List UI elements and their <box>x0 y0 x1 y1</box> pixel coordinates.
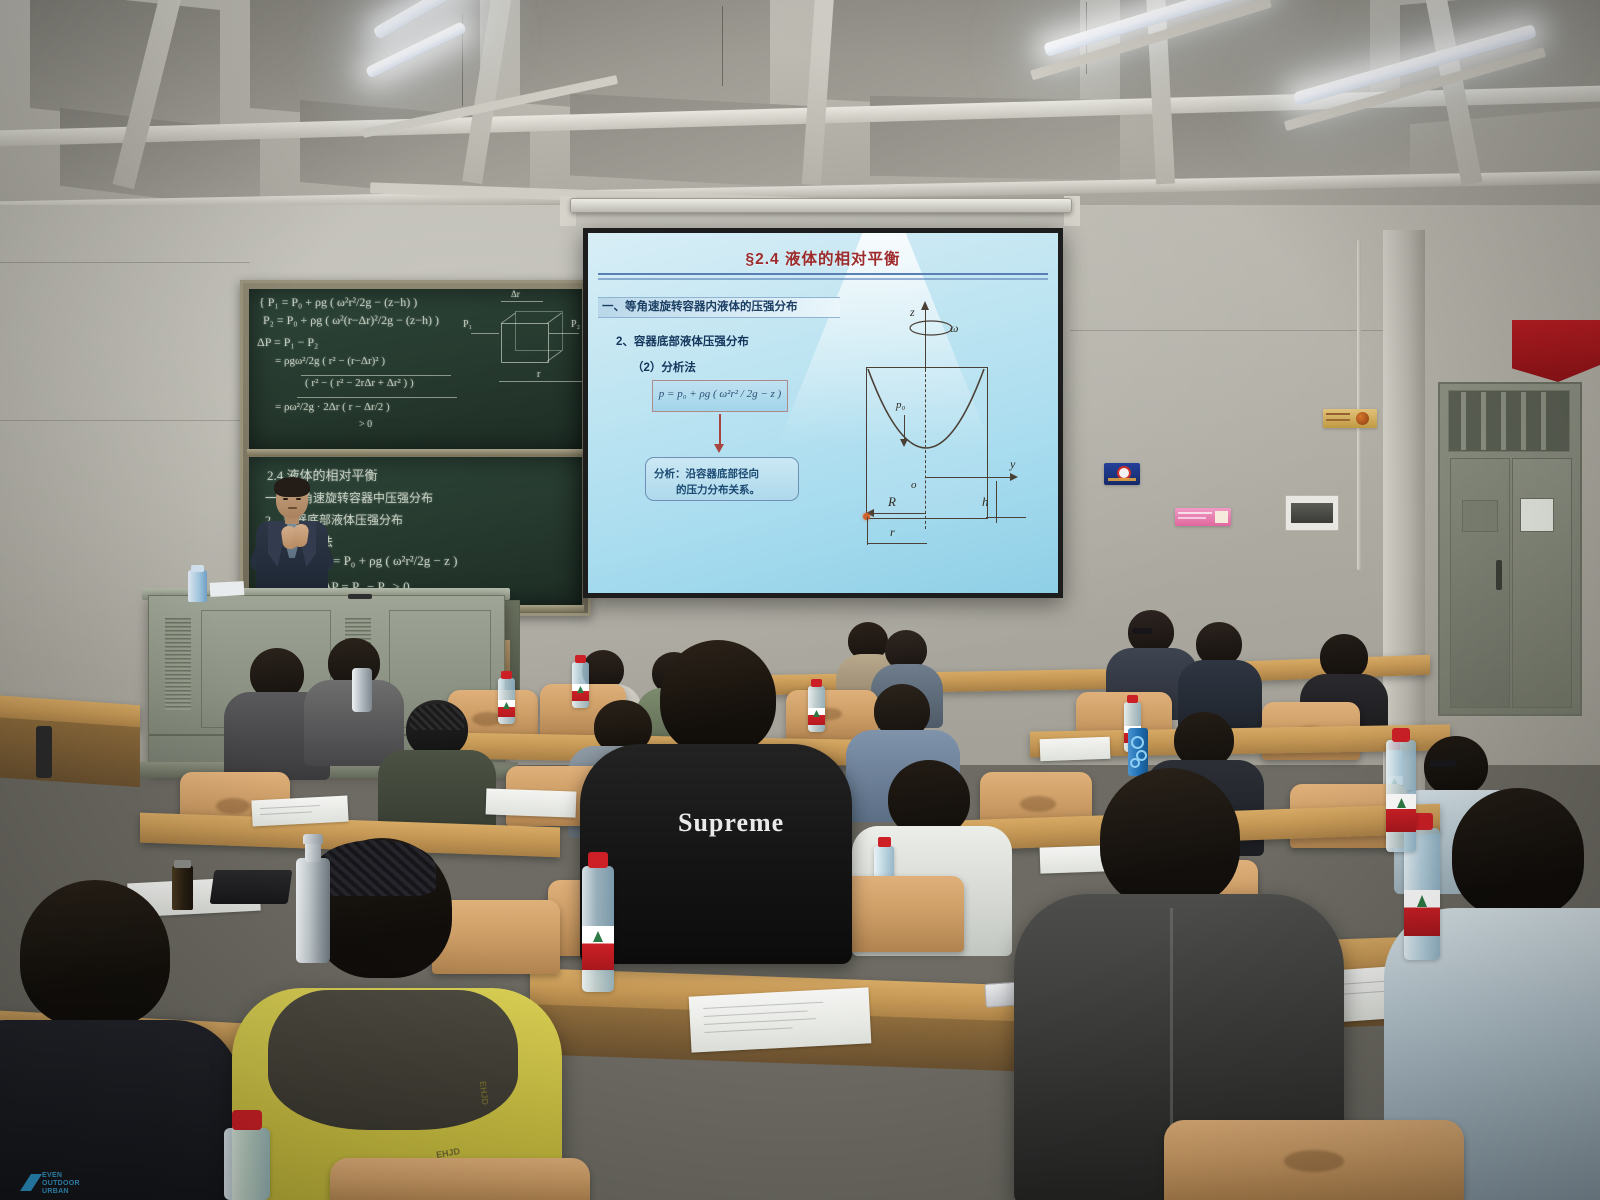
student-head <box>20 880 170 1028</box>
diagram-label-R: R <box>888 494 896 510</box>
chalk-line: ( r² − ( r² − 2rΔr + Δr² ) ) <box>305 377 414 389</box>
screen-roller <box>570 198 1072 213</box>
laptop[interactable] <box>210 870 293 904</box>
chair-back[interactable] <box>1164 1120 1464 1200</box>
black-jacket <box>580 744 852 964</box>
gold-plaque <box>1323 409 1377 428</box>
paper-sheet <box>486 788 577 817</box>
water-bottle[interactable] <box>1386 740 1416 852</box>
slide-heading: 一、等角速旋转容器内液体的压强分布 <box>602 298 840 316</box>
slide-surface: §2.4 液体的相对平衡 一、等角速旋转容器内液体的压强分布 2、容器底部液体压… <box>588 233 1058 593</box>
door-window-right <box>1520 498 1554 532</box>
slide-title: §2.4 液体的相对平衡 <box>588 247 1058 269</box>
diagram-label-h: h <box>982 494 989 510</box>
podium-paper <box>210 581 245 597</box>
parabolic-free-surface <box>866 367 986 479</box>
water-bottle[interactable] <box>224 1128 270 1200</box>
water-bottle[interactable] <box>582 866 614 992</box>
lecturer <box>252 480 332 602</box>
diagram-label-p0: p₀ <box>896 399 905 411</box>
slide-item-2: 2、容器底部液体压强分布 <box>616 333 749 349</box>
thermos-cap <box>174 860 191 868</box>
steel-bottle[interactable] <box>352 668 372 712</box>
water-bottle[interactable] <box>808 686 825 732</box>
door-handle[interactable] <box>1496 560 1502 590</box>
chalk-line: = ρgω²/2g ( r² − (r−Δr)² ) <box>275 355 385 367</box>
slide-item-2-sub: （2）分析法 <box>632 359 696 375</box>
desk-front-panel <box>0 717 140 787</box>
flask-lid <box>303 834 323 844</box>
door-right-leaf[interactable] <box>1512 458 1572 708</box>
panel-window <box>1291 503 1333 523</box>
door-panel-left <box>1462 500 1498 532</box>
student-head <box>1452 788 1584 918</box>
steel-flask[interactable] <box>296 858 330 963</box>
chalk-line: = ρω²/2g · 2Δr ( r − Δr/2 ) <box>275 401 390 413</box>
flask-neck <box>305 842 321 862</box>
electrical-panel[interactable] <box>1285 495 1339 531</box>
paper-sheet <box>689 987 872 1052</box>
blackboard-upper-panel: { P₁ = P₀ + ρg ( ω²r²/2g − (z−h) ) P₂ = … <box>249 289 582 449</box>
slide-conclusion-1: 分析：沿容器底部径向 <box>654 466 759 481</box>
light-hanger <box>722 6 723 86</box>
slide-formula-box: p = p₀ + ρg ( ω²r² / 2g − z ) <box>652 380 788 412</box>
diagram-label-y: y <box>1010 457 1015 472</box>
classroom-scene: { P₁ = P₀ + ρg ( ω²r²/2g − (z−h) ) P₂ = … <box>0 0 1600 1200</box>
blue-metal-bottle[interactable] <box>1128 728 1148 776</box>
water-bottle[interactable] <box>498 678 515 724</box>
blue-safety-sticker <box>1104 463 1140 485</box>
eyeglasses <box>1132 628 1152 634</box>
wall-pillar <box>1383 230 1425 790</box>
chalk-line: > 0 <box>359 419 372 430</box>
diagram-label-o: o <box>911 479 917 491</box>
diagram-label-z: z <box>910 305 915 320</box>
rotating-vessel-pressure-diagram: z ω p₀ y o R h <box>838 291 1038 571</box>
thermos-cup[interactable] <box>172 866 193 910</box>
desk-hook <box>36 726 52 778</box>
door-transom <box>1448 390 1570 452</box>
chalk-line: P = P₀ + ρg ( ω²r²/2g − z ) <box>323 553 457 569</box>
chalk-line: { P₁ = P₀ + ρg ( ω²r²/2g − (z−h) ) <box>259 295 417 310</box>
slide-conclusion-box: 分析：沿容器底部径向 的压力分布关系。 <box>645 457 799 501</box>
diagram-label-omega: ω <box>950 321 958 336</box>
chalk-line: P₂ = P₀ + ρg ( ω²(r−Δr)²/2g − (z−h) ) <box>263 313 439 328</box>
mesh-cap <box>410 704 464 730</box>
podium-water-bottle <box>188 570 207 602</box>
pink-notice <box>1175 508 1231 526</box>
chalk-line: ΔP = P₁ − P₂ <box>257 335 318 350</box>
projector-screen: §2.4 液体的相对平衡 一、等角速旋转容器内液体的压强分布 2、容器底部液体压… <box>583 228 1063 598</box>
student-head <box>660 640 776 756</box>
student-head <box>1100 768 1240 908</box>
hoodie-hood <box>268 990 518 1130</box>
flow-arrow-head <box>714 444 724 453</box>
chair-back[interactable] <box>330 1158 590 1200</box>
lecturer-hair <box>274 477 310 497</box>
mesh-hairband <box>316 840 436 896</box>
whiteboard-marker <box>348 594 372 599</box>
wall-conduit <box>1357 240 1361 570</box>
slide-conclusion-2: 的压力分布关系。 <box>676 482 760 497</box>
supreme-logo-text: Supreme <box>678 808 784 838</box>
eyeglasses <box>1430 760 1456 767</box>
bottle-cap <box>191 565 204 572</box>
flow-arrow-stem <box>719 414 721 446</box>
paper-sheet <box>1040 737 1111 761</box>
slide-formula: p = p₀ + ρg ( ω²r² / 2g − z ) <box>653 388 787 400</box>
diagram-label-r: r <box>890 525 895 540</box>
water-bottle[interactable] <box>572 662 589 708</box>
paper-sheet <box>251 796 348 827</box>
